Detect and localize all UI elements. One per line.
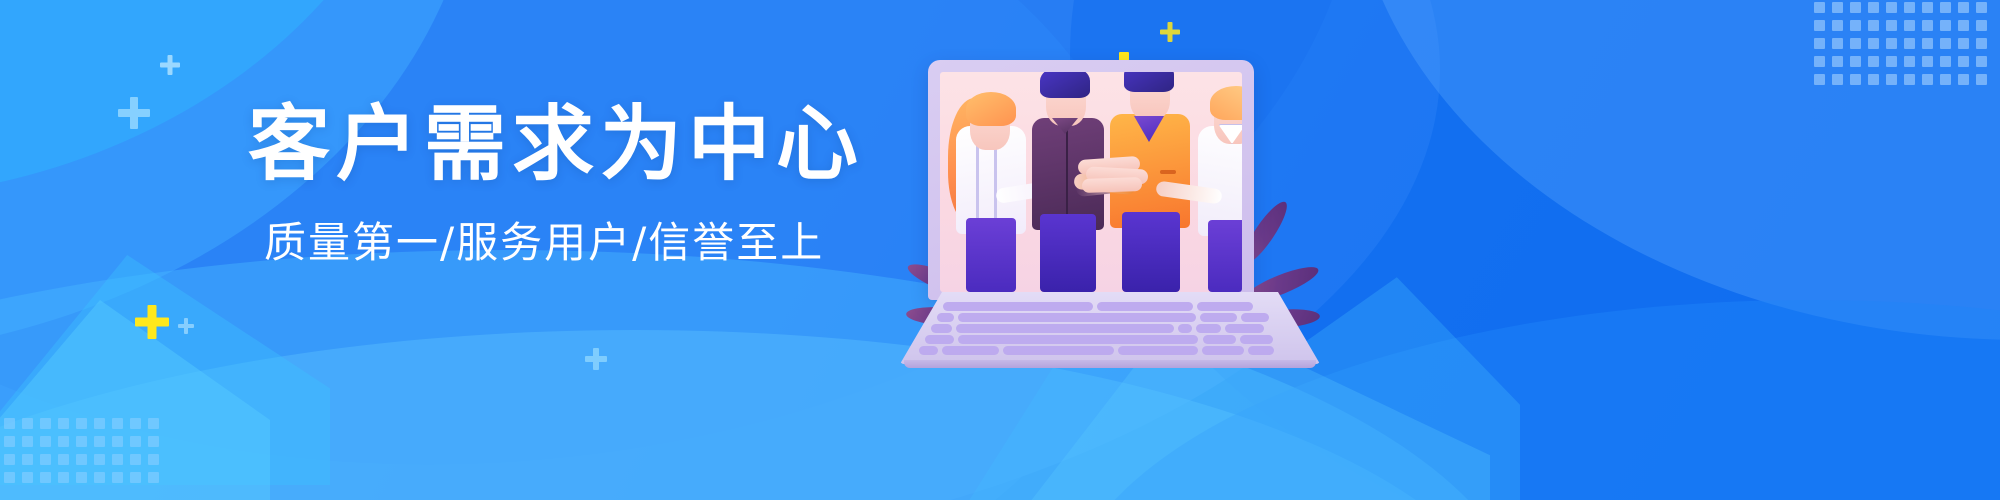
- grid-dot: [76, 436, 87, 447]
- grid-dot: [1940, 38, 1951, 49]
- grid-dot: [58, 436, 69, 447]
- keyboard-key: [958, 313, 1196, 322]
- grid-dot: [112, 472, 123, 483]
- dot-grid-top-right: [1814, 2, 1994, 92]
- grid-dot: [1958, 38, 1969, 49]
- grid-dot: [22, 418, 33, 429]
- grid-dot: [1976, 38, 1987, 49]
- stacked-hands: [1078, 158, 1156, 196]
- grid-dot: [1904, 38, 1915, 49]
- grid-dot: [22, 454, 33, 465]
- grid-dot: [1868, 56, 1879, 67]
- grid-dot: [1922, 2, 1933, 13]
- grid-dot: [1868, 2, 1879, 13]
- grid-dot: [76, 472, 87, 483]
- grid-dot: [1940, 2, 1951, 13]
- grid-dot: [1904, 74, 1915, 85]
- grid-dot: [1976, 74, 1987, 85]
- keyboard-key: [1118, 346, 1198, 355]
- grid-dot: [58, 472, 69, 483]
- grid-dot: [58, 454, 69, 465]
- laptop-keyboard: [900, 296, 1320, 358]
- dot-grid-bottom-left: [4, 418, 164, 498]
- grid-dot: [4, 472, 15, 483]
- grid-dot: [94, 418, 105, 429]
- grid-dot: [1832, 56, 1843, 67]
- grid-dot: [1850, 74, 1861, 85]
- banner-copy-block: 客户需求为中心 质量第一/服务用户/信誉至上: [248, 104, 888, 266]
- grid-dot: [1868, 38, 1879, 49]
- grid-dot: [94, 436, 105, 447]
- plus-decor-icon: [160, 55, 180, 75]
- grid-dot: [1922, 20, 1933, 31]
- keyboard-key: [956, 324, 1174, 333]
- keyboard-key: [958, 335, 1198, 344]
- grid-dot: [1868, 20, 1879, 31]
- hair-top: [966, 92, 1016, 126]
- hand: [1082, 177, 1142, 193]
- grid-dot: [130, 472, 141, 483]
- grid-dot: [1922, 38, 1933, 49]
- teamwork-scene: [940, 72, 1242, 292]
- grid-dot: [1958, 74, 1969, 85]
- grid-dot: [148, 454, 159, 465]
- keyboard-key: [1197, 302, 1253, 311]
- blazer-pocket: [1160, 170, 1176, 174]
- grid-dot: [1850, 38, 1861, 49]
- keyboard-key: [1240, 335, 1273, 344]
- plus-decor-icon: [1160, 22, 1180, 42]
- grid-dot: [1814, 2, 1825, 13]
- background-wave-right-light: [1350, 0, 2000, 340]
- jacket-lapel: [994, 142, 997, 230]
- grid-dot: [1958, 2, 1969, 13]
- grid-dot: [1850, 56, 1861, 67]
- trousers: [1122, 212, 1180, 292]
- keyboard-key: [943, 302, 1093, 311]
- plus-decor-icon: [135, 305, 169, 339]
- trousers: [966, 218, 1016, 292]
- grid-dot: [1904, 56, 1915, 67]
- grid-dot: [40, 436, 51, 447]
- grid-dot: [1958, 56, 1969, 67]
- grid-dot: [1958, 20, 1969, 31]
- grid-dot: [130, 418, 141, 429]
- grid-dot: [1904, 20, 1915, 31]
- keyboard-key: [925, 335, 954, 344]
- laptop-screen: [940, 72, 1242, 292]
- grid-dot: [1814, 20, 1825, 31]
- keyboard-key: [1248, 346, 1275, 355]
- grid-dot: [1850, 20, 1861, 31]
- grid-dot: [40, 454, 51, 465]
- person-woman-orange-hair: [946, 76, 1032, 292]
- promo-banner: 客户需求为中心 质量第一/服务用户/信誉至上: [0, 0, 2000, 500]
- grid-dot: [1832, 20, 1843, 31]
- grid-dot: [22, 436, 33, 447]
- keyboard-key: [931, 324, 952, 333]
- keyboard-key: [1200, 313, 1238, 322]
- keyboard-key: [942, 346, 999, 355]
- grid-dot: [1886, 20, 1897, 31]
- grid-dot: [4, 436, 15, 447]
- keyboard-key: [1225, 324, 1264, 333]
- grid-dot: [1886, 38, 1897, 49]
- grid-dot: [1886, 56, 1897, 67]
- person-woman-blonde: [1190, 72, 1242, 292]
- plus-decor-icon: [178, 318, 194, 334]
- grid-dot: [1832, 74, 1843, 85]
- grid-dot: [4, 418, 15, 429]
- grid-dot: [1814, 74, 1825, 85]
- grid-dot: [40, 418, 51, 429]
- grid-dot: [112, 436, 123, 447]
- grid-dot: [148, 472, 159, 483]
- grid-dot: [1940, 74, 1951, 85]
- grid-dot: [130, 454, 141, 465]
- keyboard-key: [1241, 313, 1268, 322]
- grid-dot: [1886, 2, 1897, 13]
- grid-dot: [1886, 74, 1897, 85]
- keyboard-key: [1196, 324, 1221, 333]
- grid-dot: [76, 418, 87, 429]
- grid-dot: [112, 418, 123, 429]
- grid-dot: [1868, 74, 1879, 85]
- grid-dot: [40, 472, 51, 483]
- grid-dot: [148, 418, 159, 429]
- trousers: [1208, 220, 1242, 292]
- laptop-teamwork-illustration: [900, 48, 1320, 378]
- laptop-foot: [904, 360, 1316, 368]
- grid-dot: [148, 436, 159, 447]
- keyboard-key: [1202, 346, 1244, 355]
- grid-dot: [94, 472, 105, 483]
- keyboard-key: [1097, 302, 1193, 311]
- hair-top: [1124, 72, 1174, 92]
- grid-dot: [1922, 56, 1933, 67]
- banner-subheadline: 质量第一/服务用户/信誉至上: [264, 220, 888, 266]
- grid-dot: [1850, 2, 1861, 13]
- keyboard-key: [1178, 324, 1192, 333]
- keyboard-key: [1203, 335, 1236, 344]
- grid-dot: [130, 436, 141, 447]
- grid-dot: [22, 472, 33, 483]
- keyboard-key: [1003, 346, 1114, 355]
- grid-dot: [94, 454, 105, 465]
- grid-dot: [1976, 56, 1987, 67]
- hair-top: [1040, 72, 1090, 98]
- background-chevron-left-1: [0, 255, 330, 485]
- plus-decor-icon: [118, 97, 150, 129]
- keyboard-key: [919, 346, 938, 355]
- background-chevron-left-2: [0, 300, 270, 500]
- grid-dot: [1832, 38, 1843, 49]
- banner-headline: 客户需求为中心: [248, 104, 888, 186]
- grid-dot: [4, 454, 15, 465]
- grid-dot: [1976, 2, 1987, 13]
- grid-dot: [1814, 56, 1825, 67]
- grid-dot: [1814, 38, 1825, 49]
- grid-dot: [112, 454, 123, 465]
- hair-top: [1210, 86, 1242, 120]
- plus-decor-icon: [585, 348, 607, 370]
- grid-dot: [1976, 20, 1987, 31]
- grid-dot: [1904, 2, 1915, 13]
- grid-dot: [58, 418, 69, 429]
- grid-dot: [1940, 56, 1951, 67]
- grid-dot: [1940, 20, 1951, 31]
- laptop-lid: [928, 60, 1254, 300]
- grid-dot: [1832, 2, 1843, 13]
- grid-dot: [1922, 74, 1933, 85]
- trousers: [1040, 214, 1096, 292]
- keyboard-key: [937, 313, 954, 322]
- grid-dot: [76, 454, 87, 465]
